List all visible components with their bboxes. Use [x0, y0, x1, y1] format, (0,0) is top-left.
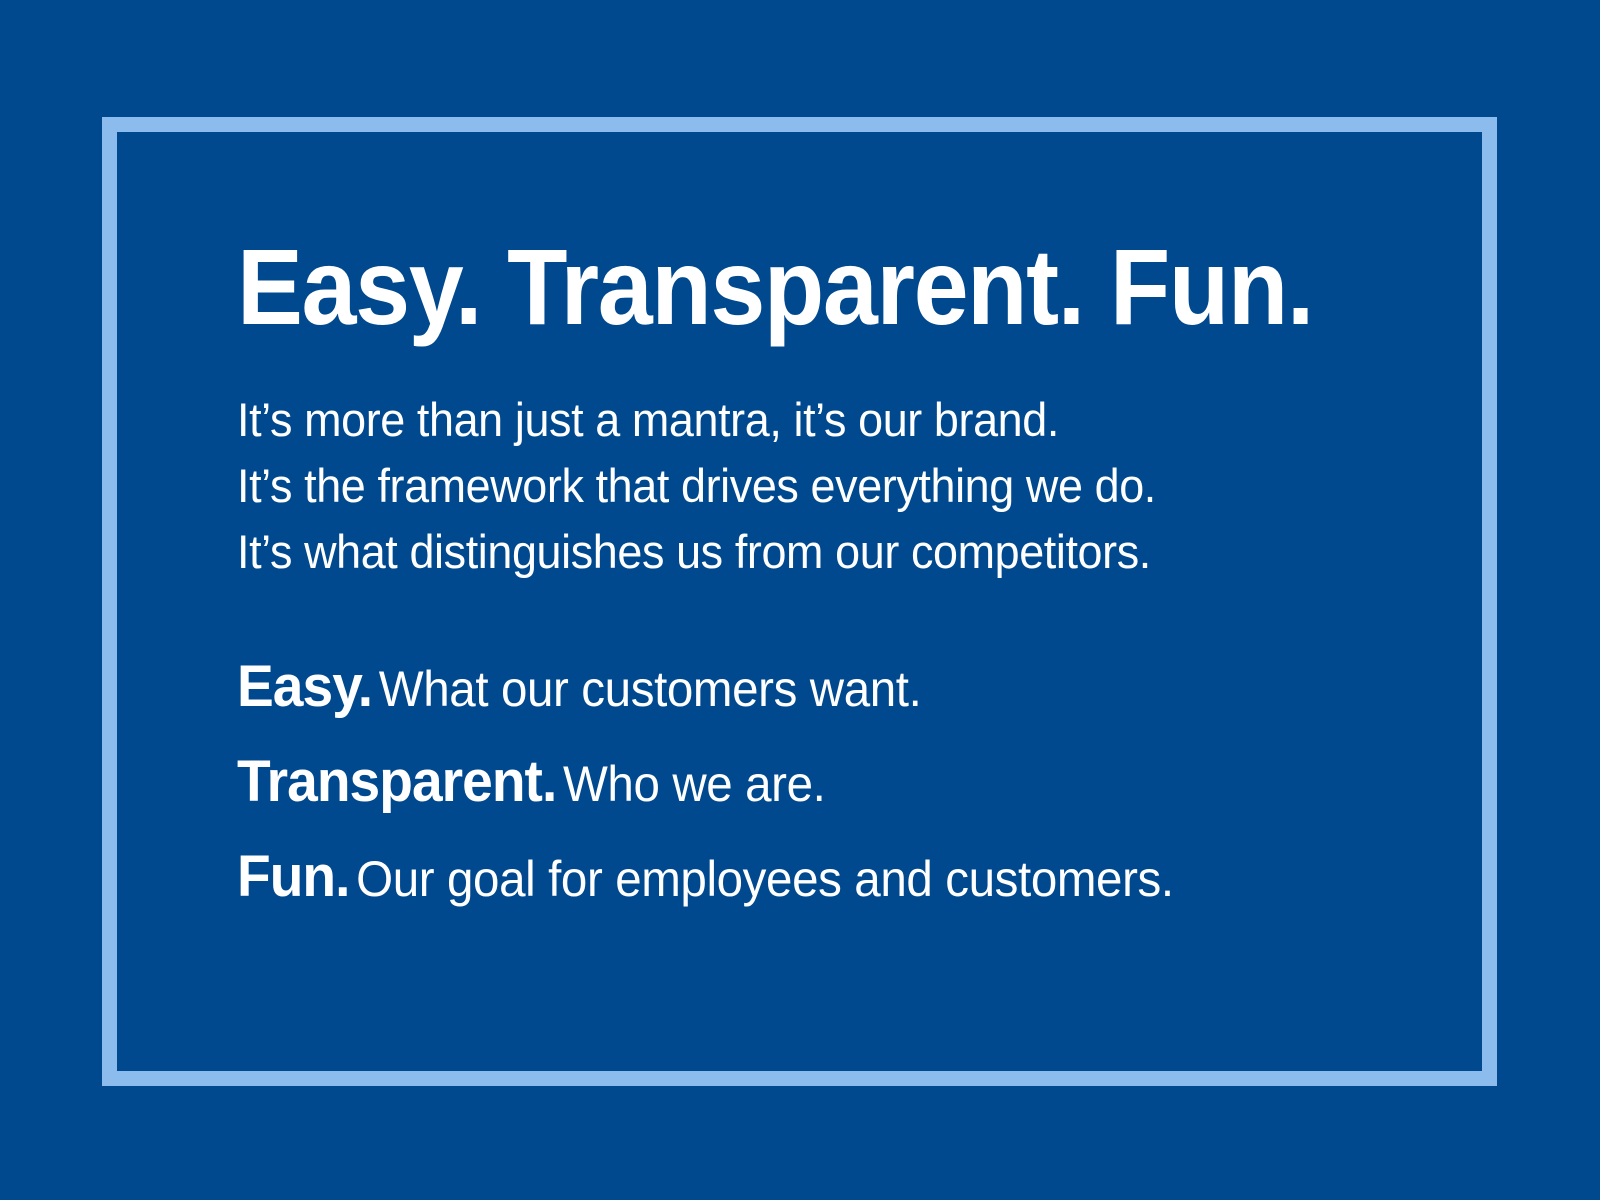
- definition-description: Our goal for employees and customers.: [349, 851, 1173, 907]
- slide-canvas: Easy. Transparent. Fun. It’s more than j…: [0, 0, 1600, 1200]
- page-title: Easy. Transparent. Fun.: [237, 232, 1280, 342]
- definitions-list: Easy.What our customers want. Transparen…: [237, 585, 1377, 932]
- intro-line: It’s the framework that drives everythin…: [237, 453, 1326, 519]
- definition-item: Transparent.Who we are.: [237, 742, 1320, 837]
- intro-line: It’s more than just a mantra, it’s our b…: [237, 387, 1326, 453]
- definition-term: Easy.: [237, 654, 372, 719]
- slide-content: Easy. Transparent. Fun. It’s more than j…: [237, 232, 1377, 932]
- definition-description: Who we are.: [556, 756, 825, 812]
- definition-description: What our customers want.: [372, 661, 921, 717]
- definition-term: Transparent.: [237, 749, 556, 814]
- intro-paragraph: It’s more than just a mantra, it’s our b…: [237, 342, 1377, 585]
- definition-item: Easy.What our customers want.: [237, 647, 1320, 742]
- definition-term: Fun.: [237, 844, 349, 909]
- definition-item: Fun.Our goal for employees and customers…: [237, 837, 1320, 932]
- intro-line: It’s what distinguishes us from our comp…: [237, 519, 1326, 585]
